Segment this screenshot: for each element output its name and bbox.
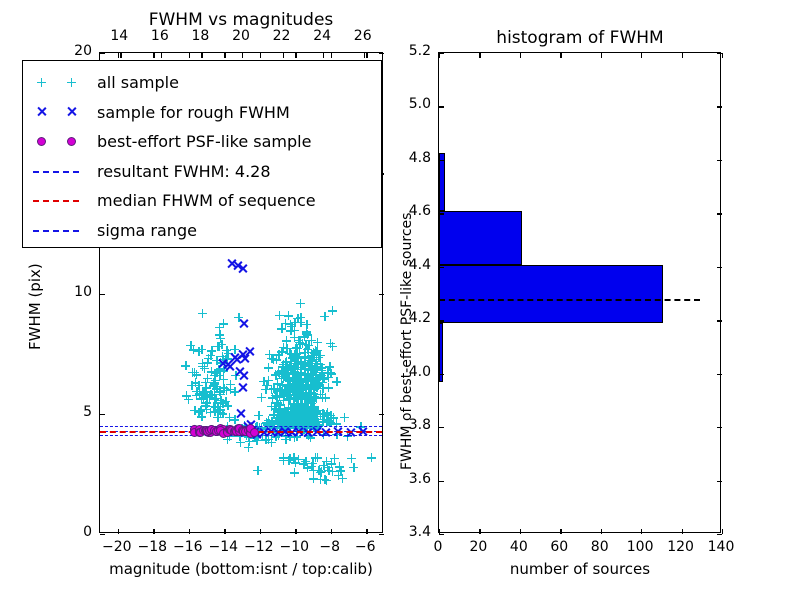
tick-mark xyxy=(560,529,561,534)
y-tick-label: 4.4 xyxy=(409,257,431,273)
legend-label: all sample xyxy=(97,73,179,92)
x-tick-label: 80 xyxy=(591,539,609,555)
scatter-point-rough-fwhm xyxy=(238,318,249,329)
top-tick-label: 20 xyxy=(232,28,250,44)
tick-mark xyxy=(439,427,444,428)
scatter-point-rough-fwhm xyxy=(238,370,249,381)
scatter-point-all-sample xyxy=(295,390,304,399)
tick-mark xyxy=(379,414,384,415)
x-tick-label: −10 xyxy=(279,539,309,555)
cross-icon xyxy=(36,106,47,117)
y-tick-label: 10 xyxy=(74,284,92,300)
scatter-point-all-sample xyxy=(287,322,296,331)
top-tick-label: 24 xyxy=(313,28,331,44)
tick-mark xyxy=(331,529,332,534)
tick-mark xyxy=(439,160,444,161)
tick-mark xyxy=(439,481,444,482)
x-tick-label: −14 xyxy=(208,539,238,555)
histogram-plot-area[interactable] xyxy=(438,52,721,533)
tick-mark xyxy=(379,53,384,54)
tick-mark xyxy=(153,53,154,58)
scatter-point-all-sample xyxy=(297,404,306,413)
right-panel-xlabel: number of sources xyxy=(510,560,650,578)
scatter-point-all-sample xyxy=(219,375,228,384)
plus-icon xyxy=(37,78,46,87)
scatter-point-all-sample xyxy=(253,466,262,475)
scatter-point-all-sample xyxy=(347,454,356,463)
y-tick-label: 4.6 xyxy=(409,203,431,219)
y-tick-label: 3.8 xyxy=(409,417,431,433)
cross-icon xyxy=(66,106,77,117)
tick-mark xyxy=(520,53,521,58)
tick-mark xyxy=(641,53,642,58)
tick-mark xyxy=(439,267,444,268)
tick-mark xyxy=(717,427,722,428)
x-tick-label: 60 xyxy=(550,539,568,555)
legend-entry[interactable]: resultant FWHM: 4.28 xyxy=(23,158,381,187)
scatter-point-all-sample xyxy=(199,388,208,397)
top-tick-label: 14 xyxy=(110,28,128,44)
scatter-point-all-sample xyxy=(291,344,300,353)
tick-mark xyxy=(242,53,243,58)
scatter-point-all-sample xyxy=(293,374,302,383)
tick-mark xyxy=(100,53,105,54)
scatter-point-all-sample xyxy=(316,351,325,360)
histogram-bar[interactable] xyxy=(439,153,445,210)
tick-mark xyxy=(717,106,722,107)
scatter-point-all-sample xyxy=(318,393,327,402)
x-tick-label: 100 xyxy=(627,539,654,555)
scatter-point-all-sample xyxy=(215,330,224,339)
legend-label: sigma range xyxy=(97,221,197,240)
scatter-point-rough-fwhm xyxy=(345,427,356,438)
scatter-point-all-sample xyxy=(279,453,288,462)
tick-mark xyxy=(717,213,722,214)
tick-mark xyxy=(717,160,722,161)
scatter-point-all-sample xyxy=(210,394,219,403)
figure-canvas: FWHM vs magnitudes 14161820222426 FWHM (… xyxy=(0,0,800,600)
scatter-point-all-sample xyxy=(310,414,319,423)
tick-mark xyxy=(153,529,154,534)
scatter-point-all-sample xyxy=(197,412,206,421)
scatter-point-all-sample xyxy=(349,463,358,472)
tick-mark xyxy=(439,374,444,375)
scatter-point-all-sample xyxy=(320,475,329,484)
tick-mark xyxy=(717,374,722,375)
tick-mark xyxy=(100,534,105,535)
legend-entry[interactable]: sigma range xyxy=(23,217,381,246)
top-tick-label: 16 xyxy=(151,28,169,44)
scatter-point-all-sample xyxy=(182,391,191,400)
left-panel-xlabel: magnitude (bottom:isnt / top:calib) xyxy=(109,560,373,578)
y-tick-label: 3.4 xyxy=(409,524,431,540)
scatter-point-all-sample xyxy=(291,353,300,362)
scatter-point-psf-like xyxy=(250,428,259,437)
scatter-point-rough-fwhm xyxy=(237,263,248,274)
scatter-point-all-sample xyxy=(222,386,231,395)
scatter-point-all-sample xyxy=(309,474,318,483)
tick-mark xyxy=(682,529,683,534)
tick-mark xyxy=(323,53,324,58)
legend-label: median FHWM of sequence xyxy=(97,191,316,210)
histogram-median-line xyxy=(439,299,700,301)
scatter-point-all-sample xyxy=(328,342,337,351)
scatter-point-all-sample xyxy=(198,309,207,318)
legend-entry[interactable]: best-effort PSF-like sample xyxy=(23,128,381,157)
scatter-point-all-sample xyxy=(272,355,281,364)
x-tick-label: 120 xyxy=(667,539,694,555)
scatter-point-all-sample xyxy=(309,365,318,374)
tick-mark xyxy=(439,320,444,321)
scatter-point-all-sample xyxy=(189,345,198,354)
scatter-point-all-sample xyxy=(257,393,266,402)
x-tick-label: −6 xyxy=(355,539,376,555)
y-tick-label: 5 xyxy=(83,404,92,420)
tick-mark xyxy=(260,529,261,534)
scatter-point-all-sample xyxy=(340,413,349,422)
scatter-point-all-sample xyxy=(284,387,293,396)
top-tick-label: 22 xyxy=(273,28,291,44)
tick-mark xyxy=(120,53,121,58)
legend-entry[interactable]: sample for rough FWHM xyxy=(23,99,381,128)
x-tick-label: −18 xyxy=(137,539,167,555)
scatter-point-all-sample xyxy=(338,474,347,483)
scatter-point-all-sample xyxy=(324,383,333,392)
scatter-point-all-sample xyxy=(244,443,253,452)
scatter-point-all-sample xyxy=(211,376,220,385)
scatter-point-all-sample xyxy=(203,374,212,383)
scatter-point-all-sample xyxy=(296,313,305,322)
top-tick-label: 18 xyxy=(192,28,210,44)
tick-mark xyxy=(189,53,190,58)
scatter-point-all-sample xyxy=(304,394,313,403)
y-tick-label: 3.6 xyxy=(409,471,431,487)
tick-mark xyxy=(722,529,723,534)
tick-mark xyxy=(717,320,722,321)
tick-mark xyxy=(439,213,444,214)
tick-mark xyxy=(601,53,602,58)
x-tick-label: 0 xyxy=(434,539,443,555)
scatter-point-all-sample xyxy=(308,459,317,468)
dot-icon xyxy=(37,137,46,146)
scatter-point-rough-fwhm xyxy=(217,358,228,369)
y-tick-label: 5.2 xyxy=(409,43,431,59)
right-panel-title: histogram of FWHM xyxy=(496,28,663,48)
dashed-line-icon xyxy=(33,171,79,173)
scatter-point-all-sample xyxy=(296,365,305,374)
legend-label: best-effort PSF-like sample xyxy=(97,132,311,151)
scatter-point-rough-fwhm xyxy=(235,408,246,419)
tick-mark xyxy=(201,53,202,58)
scatter-point-rough-fwhm xyxy=(237,382,248,393)
dashed-line-icon xyxy=(33,200,79,202)
tick-mark xyxy=(224,529,225,534)
tick-mark xyxy=(118,53,119,58)
y-tick-label: 5.0 xyxy=(409,96,431,112)
tick-mark xyxy=(601,529,602,534)
scatter-point-all-sample xyxy=(289,453,298,462)
scatter-point-all-sample xyxy=(271,371,280,380)
dashdot-line-icon xyxy=(33,230,79,232)
scatter-point-all-sample xyxy=(192,370,201,379)
x-tick-label: 40 xyxy=(510,539,528,555)
tick-mark xyxy=(520,529,521,534)
tick-mark xyxy=(717,267,722,268)
x-tick-label: −8 xyxy=(319,539,340,555)
scatter-point-rough-fwhm xyxy=(244,346,255,357)
tick-mark xyxy=(379,294,384,295)
tick-mark xyxy=(283,53,284,58)
legend-entry[interactable]: all sample xyxy=(23,69,381,98)
scatter-point-all-sample xyxy=(216,408,225,417)
tick-mark xyxy=(717,534,722,535)
tick-mark xyxy=(189,529,190,534)
x-tick-label: 140 xyxy=(708,539,735,555)
scatter-point-all-sample xyxy=(367,453,376,462)
scatter-point-all-sample xyxy=(217,340,226,349)
histogram-bar[interactable] xyxy=(439,211,522,266)
scatter-point-all-sample xyxy=(324,416,333,425)
tick-mark xyxy=(439,106,444,107)
scatter-point-all-sample xyxy=(275,311,284,320)
plus-icon xyxy=(67,78,76,87)
tick-mark xyxy=(364,53,365,58)
scatter-point-all-sample xyxy=(273,398,282,407)
tick-mark xyxy=(479,53,480,58)
scatter-point-all-sample xyxy=(277,324,286,333)
scatter-point-all-sample xyxy=(328,306,337,315)
scatter-point-all-sample xyxy=(302,329,311,338)
tick-mark xyxy=(161,53,162,58)
tick-mark xyxy=(224,53,225,58)
top-tick-label: 26 xyxy=(354,28,372,44)
scatter-point-all-sample xyxy=(327,459,336,468)
tick-mark xyxy=(722,53,723,58)
scatter-point-all-sample xyxy=(200,364,209,373)
scatter-point-all-sample xyxy=(296,299,305,308)
scatter-point-rough-fwhm xyxy=(320,427,331,438)
dot-icon xyxy=(67,137,76,146)
tick-mark xyxy=(260,53,261,58)
x-tick-label: −16 xyxy=(173,539,203,555)
left-panel-ylabel: FWHM (pix) xyxy=(26,263,44,350)
left-panel-title: FWHM vs magnitudes xyxy=(149,10,334,30)
tick-mark xyxy=(379,534,384,535)
legend-entry[interactable]: median FHWM of sequence xyxy=(23,187,381,216)
x-tick-label: −12 xyxy=(244,539,274,555)
tick-mark xyxy=(560,53,561,58)
y-tick-label: 4.2 xyxy=(409,310,431,326)
tick-mark xyxy=(331,53,332,58)
scatter-point-all-sample xyxy=(197,345,206,354)
legend-box: all samplesample for rough FWHMbest-effo… xyxy=(22,60,382,248)
legend-label: sample for rough FWHM xyxy=(97,103,290,122)
scatter-point-all-sample xyxy=(223,401,232,410)
scatter-point-all-sample xyxy=(267,438,276,447)
x-tick-label: −20 xyxy=(102,539,132,555)
y-tick-label: 4.8 xyxy=(409,150,431,166)
x-tick-label: 20 xyxy=(470,539,488,555)
scatter-point-all-sample xyxy=(206,351,215,360)
tick-mark xyxy=(295,529,296,534)
histogram-bar[interactable] xyxy=(439,265,663,322)
tick-mark xyxy=(100,294,105,295)
scatter-point-all-sample xyxy=(332,377,341,386)
tick-mark xyxy=(439,53,444,54)
tick-mark xyxy=(717,481,722,482)
scatter-point-all-sample xyxy=(323,369,332,378)
tick-mark xyxy=(439,534,444,535)
tick-mark xyxy=(118,529,119,534)
legend-label: resultant FWHM: 4.28 xyxy=(97,162,271,181)
scatter-point-all-sample xyxy=(191,378,200,387)
tick-mark xyxy=(479,529,480,534)
y-tick-label: 20 xyxy=(74,43,92,59)
scatter-point-all-sample xyxy=(290,468,299,477)
tick-mark xyxy=(641,529,642,534)
tick-mark xyxy=(682,53,683,58)
tick-mark xyxy=(717,53,722,54)
scatter-point-all-sample xyxy=(280,372,289,381)
scatter-point-all-sample xyxy=(303,345,312,354)
y-tick-label: 0 xyxy=(83,524,92,540)
tick-mark xyxy=(366,529,367,534)
tick-mark xyxy=(295,53,296,58)
tick-mark xyxy=(100,414,105,415)
tick-mark xyxy=(366,53,367,58)
scatter-point-all-sample xyxy=(313,379,322,388)
y-tick-label: 4.0 xyxy=(409,364,431,380)
